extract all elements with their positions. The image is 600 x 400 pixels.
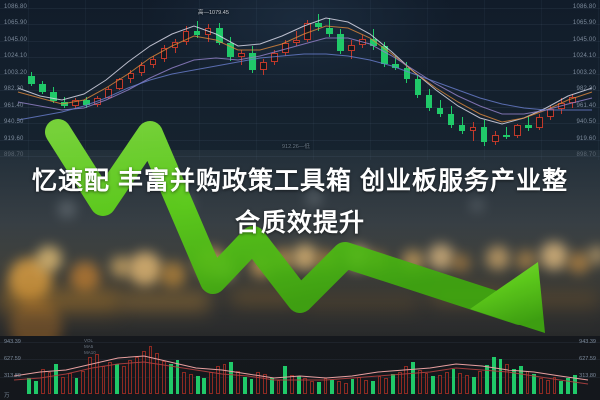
headline-line-2: 合质效提升 [0,202,600,244]
headline-line-1: 忆速配 丰富并购政策工具箱 创业板服务产业整 [32,167,568,195]
banner-headline: 忆速配 丰富并购政策工具箱 创业板服务产业整 合质效提升 [0,160,600,244]
stock-banner-image: 1086.801065.901045.001024.101003.20982.3… [0,0,600,400]
